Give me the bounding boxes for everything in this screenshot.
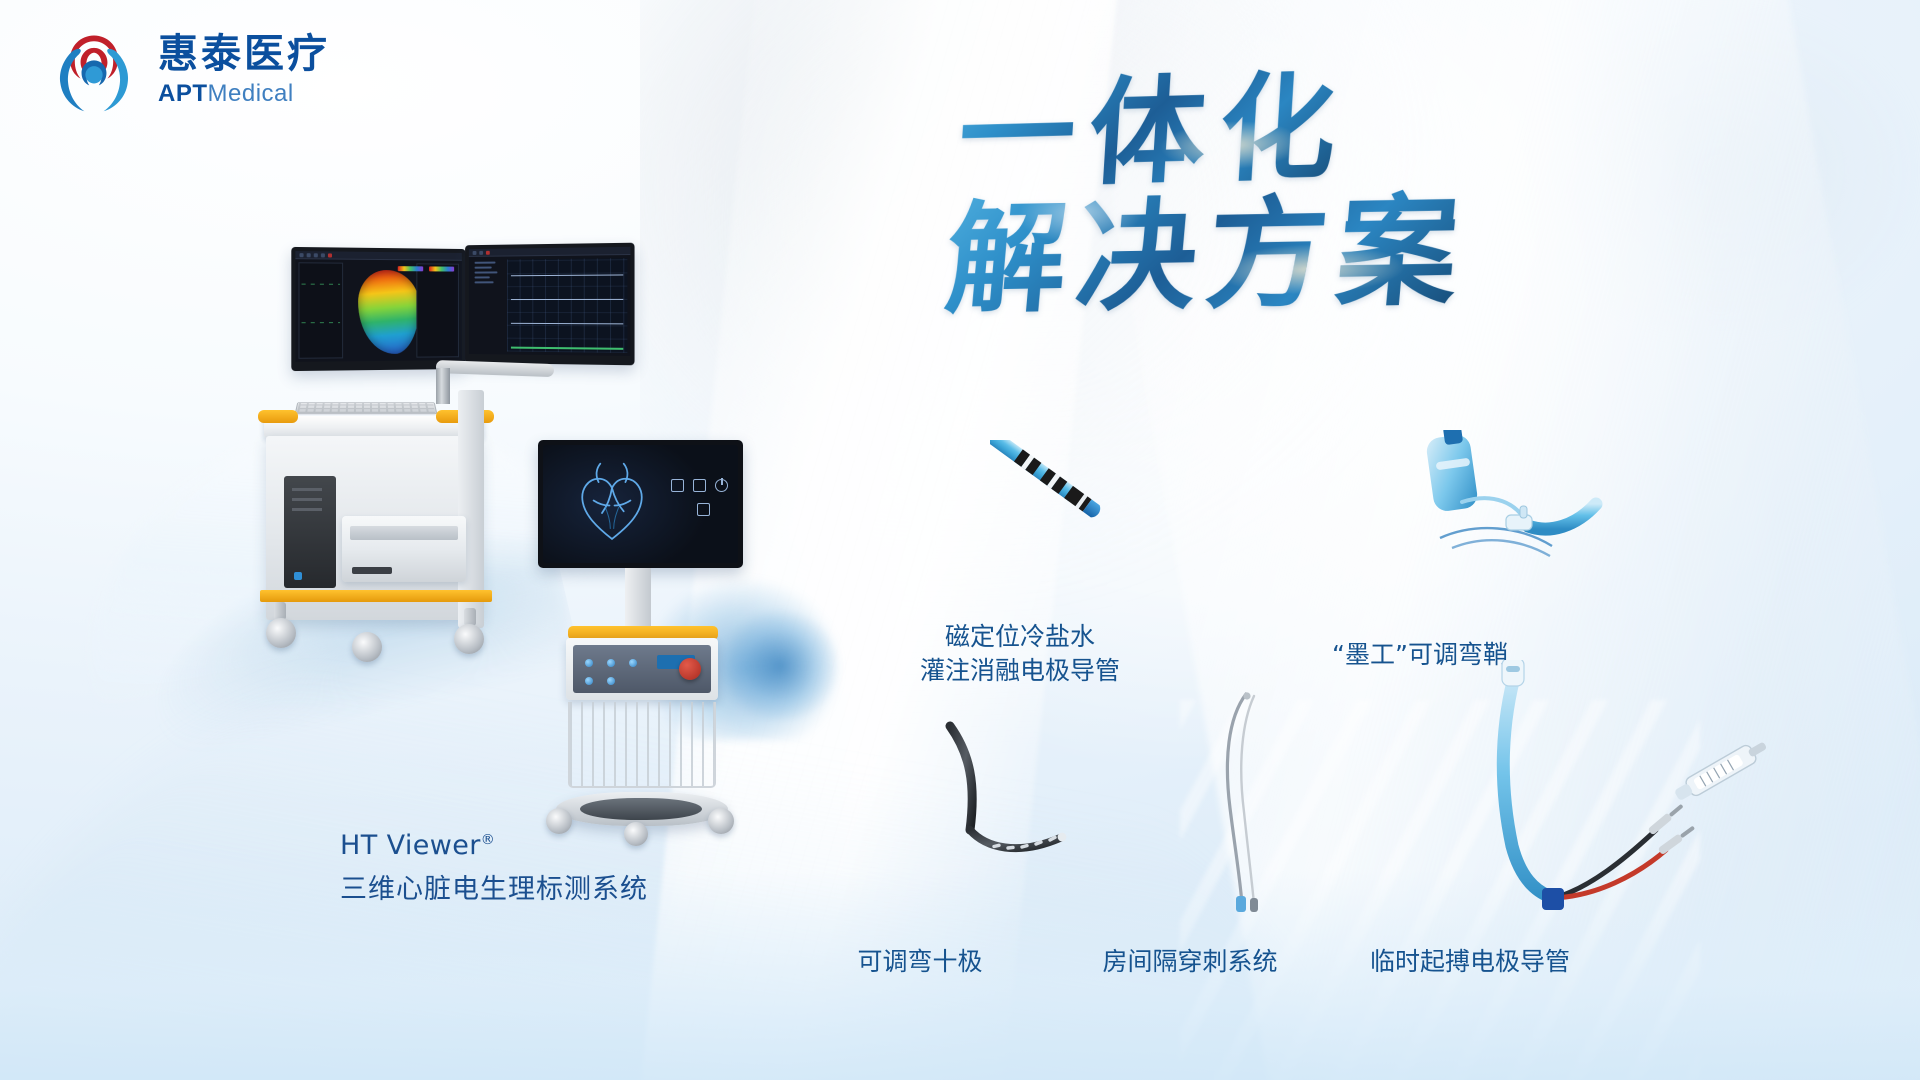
label-line: 灌注消融电极导管: [830, 654, 1210, 688]
product-label-decapolar-catheter: 可调弯十极: [770, 945, 1070, 979]
product-steerable-sheath: [1400, 430, 1640, 610]
generator-indicator-led: [585, 677, 593, 685]
cart-base-hub: [580, 798, 702, 820]
generator-indicator-led: [607, 677, 615, 685]
channel-row: [475, 271, 498, 273]
channel-row: [475, 276, 490, 278]
toolbar-dot-accent: [328, 253, 332, 257]
channel-row: [475, 267, 492, 269]
product-transseptal-system: [1190, 690, 1310, 920]
toolbar-dot: [479, 250, 483, 254]
mapping-monitor-left: [291, 247, 465, 371]
cart-accent-strip: [260, 590, 492, 602]
product-decapolar-catheter: [940, 720, 1100, 860]
brand-name-en-bold: APT: [158, 80, 208, 107]
product-label-ablation-catheter: 磁定位冷盐水 灌注消融电极导管: [830, 620, 1210, 688]
generator-front-panel[interactable]: [573, 645, 711, 693]
transseptal-needle-icon: [1190, 690, 1310, 920]
ecg-monitor: [465, 243, 634, 366]
brand-name-cn: 惠泰医疗: [158, 34, 330, 74]
generator-indicator-led: [585, 659, 593, 667]
ecg-signal-panel: [298, 262, 343, 359]
monitor-toolbar: [295, 251, 461, 261]
brand-name-en: APTMedical: [158, 82, 330, 106]
toolbar-dot-accent: [486, 250, 490, 254]
cardiac-activation-map: [358, 270, 419, 354]
poster-canvas: 惠泰医疗 APTMedical 一体化 解决方案: [0, 0, 1920, 1080]
monitor-stand-neck: [436, 368, 450, 404]
cart-handle-left[interactable]: [258, 410, 298, 423]
trademark-symbol: ®: [481, 832, 495, 848]
printer-control-panel[interactable]: [352, 567, 392, 574]
touch-display-screen[interactable]: [543, 445, 738, 563]
ecg-trace: [511, 323, 623, 325]
brand-name-en-light: Medical: [208, 80, 294, 107]
apt-medical-loop-logo-icon: [46, 22, 142, 118]
label-line: 可调弯十极: [770, 945, 1070, 979]
storage-basket: [568, 702, 716, 788]
toolbar-dot: [314, 253, 318, 257]
workstation-name: HT Viewer: [340, 830, 481, 861]
color-scale-bar: [429, 266, 454, 271]
monitor-toolbar: [469, 247, 631, 257]
generator-main-knob[interactable]: [679, 658, 701, 680]
ecg-trace-highlight: [511, 347, 623, 350]
brand-logo: 惠泰医疗 APTMedical: [46, 22, 330, 118]
rf-generator: [566, 638, 718, 700]
printer: [342, 516, 466, 582]
workstation-keyboard[interactable]: [295, 402, 438, 414]
ablation-catheter-icon: [990, 440, 1190, 570]
brand-wordmark: 惠泰医疗 APTMedical: [158, 34, 330, 106]
display-icon-row-2[interactable]: [697, 503, 710, 516]
headline-line-2: 解决方案: [940, 153, 1476, 336]
generator-cart: [520, 440, 750, 1060]
product-label-pacing-catheter: 临时起搏电极导管: [1290, 945, 1650, 979]
computer-tower: [284, 476, 336, 588]
pacing-catheter-icon: [1450, 660, 1780, 920]
cart2-caster: [708, 808, 734, 834]
settings-icon[interactable]: [697, 503, 710, 516]
decapolar-catheter-icon: [940, 720, 1100, 860]
label-line: 磁定位冷盐水: [830, 620, 1210, 654]
cart-caster: [454, 624, 484, 654]
heart-illustration-icon: [569, 457, 655, 549]
cart-caster: [266, 618, 296, 648]
cart-caster: [352, 632, 382, 662]
toolbar-dot: [473, 250, 477, 254]
power-led-icon: [294, 572, 302, 580]
toolbar-dot: [321, 253, 325, 257]
touch-display[interactable]: [538, 440, 743, 568]
display-icon-row-1[interactable]: [671, 479, 728, 492]
channel-list-panel: [472, 261, 503, 350]
folder-icon[interactable]: [693, 479, 706, 492]
color-scale-bar: [398, 266, 423, 271]
power-icon[interactable]: [715, 479, 728, 492]
workstation-caption: HT Viewer® 三维心脏电生理标测系统: [340, 830, 648, 906]
product-ablation-catheter: [990, 440, 1190, 570]
map-side-panel: [416, 263, 459, 357]
ecg-waveform-grid: [507, 258, 627, 353]
workstation-caption-en: HT Viewer®: [340, 830, 648, 861]
generator-indicator-led: [607, 659, 615, 667]
ecg-monitor-screen: [469, 247, 631, 356]
steerable-sheath-icon: [1400, 430, 1640, 610]
ecg-trace: [511, 299, 623, 300]
channel-row: [475, 262, 496, 264]
product-pacing-catheter: [1450, 660, 1780, 920]
workstation-caption-cn: 三维心脏电生理标测系统: [340, 867, 648, 906]
channel-row: [475, 281, 494, 283]
display-stand-column: [625, 568, 651, 630]
printer-paper-slot: [350, 526, 458, 540]
headline-calligraphy: 一体化 解决方案: [960, 38, 1600, 328]
generator-indicator-led: [629, 659, 637, 667]
label-line: 临时起搏电极导管: [1290, 945, 1650, 979]
save-icon[interactable]: [671, 479, 684, 492]
toolbar-dot: [307, 253, 311, 257]
toolbar-dot: [299, 253, 303, 257]
monitor-support-arm: [436, 360, 554, 377]
mapping-monitor-left-screen: [295, 251, 461, 362]
ecg-trace: [511, 274, 623, 276]
